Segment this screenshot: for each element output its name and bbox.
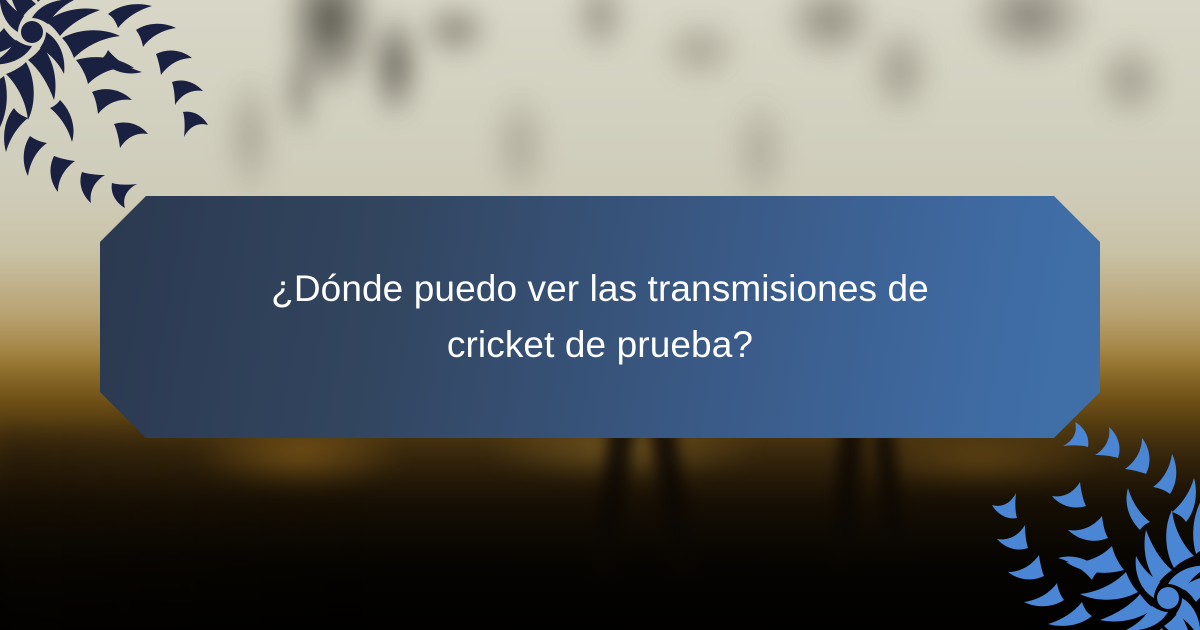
- headline-text: ¿Dónde puedo ver las transmisiones de cr…: [220, 261, 980, 373]
- headline-banner: ¿Dónde puedo ver las transmisiones de cr…: [100, 196, 1100, 438]
- damask-corner-ornament-top-left: [0, 0, 226, 226]
- share-card: ¿Dónde puedo ver las transmisiones de cr…: [0, 0, 1200, 630]
